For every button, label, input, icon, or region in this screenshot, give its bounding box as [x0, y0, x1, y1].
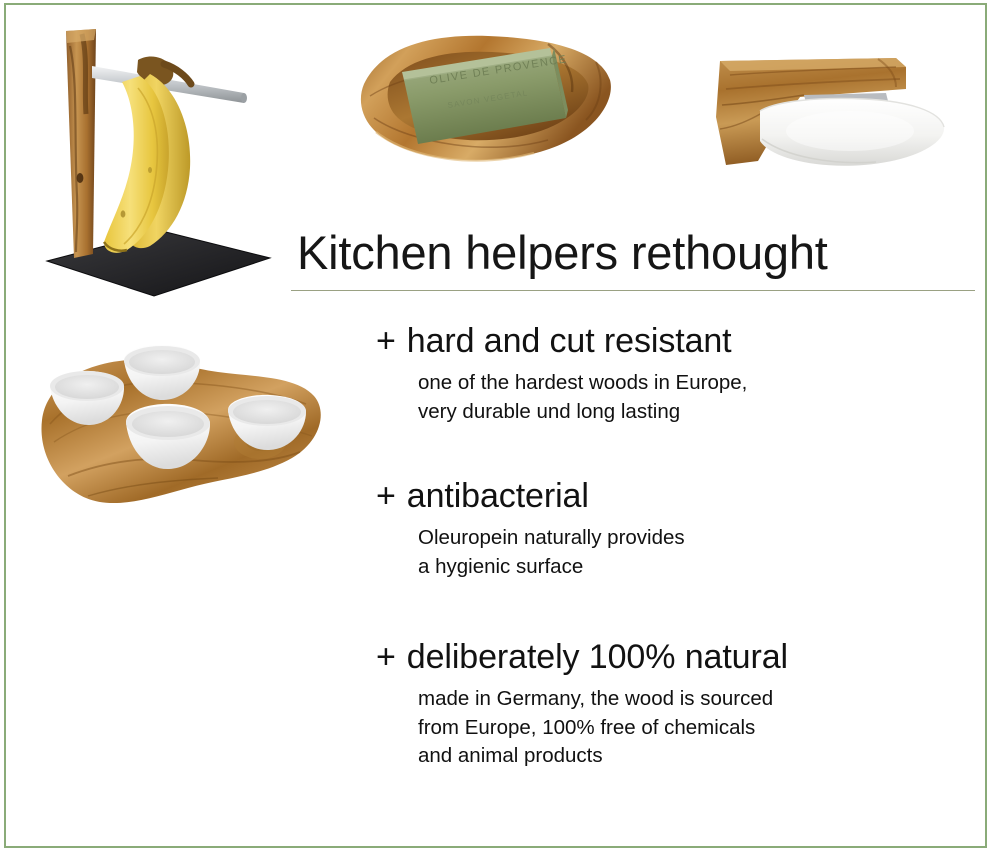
feature-description: one of the hardest woods in Europe, very… — [418, 369, 747, 426]
feature-heading-label: antibacterial — [407, 477, 589, 515]
product-image-tape-dispenser — [700, 45, 948, 190]
feature-heading-label: deliberately 100% natural — [407, 638, 788, 676]
feature-heading-label: hard and cut resistant — [407, 322, 732, 360]
feature-description-line: made in Germany, the wood is sourced — [418, 685, 788, 714]
plus-icon: + — [376, 478, 396, 515]
feature-description-line: Oleuropein naturally provides — [418, 524, 685, 553]
plus-icon: + — [376, 639, 396, 676]
product-image-banana-holder — [30, 18, 290, 303]
feature-description-line: very durable und long lasting — [418, 398, 747, 427]
feature-block-deliberately-100-natural: +deliberately 100% natural made in Germa… — [376, 639, 788, 771]
title-divider — [291, 290, 975, 291]
feature-heading: +antibacterial — [376, 478, 685, 515]
feature-heading: +hard and cut resistant — [376, 323, 747, 360]
feature-description-line: from Europe, 100% free of chemicals — [418, 714, 788, 743]
product-image-soap-dish: OLIVE DE PROVENCE SAVON VEGETAL — [352, 22, 620, 180]
feature-description-line: one of the hardest woods in Europe, — [418, 369, 747, 398]
promo-page: OLIVE DE PROVENCE SAVON VEGETAL — [0, 0, 991, 852]
feature-description-line: and animal products — [418, 742, 788, 771]
feature-heading: +deliberately 100% natural — [376, 639, 788, 676]
feature-description: Oleuropein naturally provides a hygienic… — [418, 524, 685, 581]
feature-block-antibacterial: +antibacterial Oleuropein naturally prov… — [376, 478, 685, 581]
product-image-serving-board-bowls — [28, 338, 328, 538]
page-title: Kitchen helpers rethought — [297, 228, 828, 277]
feature-description: made in Germany, the wood is sourced fro… — [418, 685, 788, 771]
feature-block-hard-and-cut-resistant: +hard and cut resistant one of the harde… — [376, 323, 747, 426]
feature-description-line: a hygienic surface — [418, 553, 685, 582]
plus-icon: + — [376, 323, 396, 360]
